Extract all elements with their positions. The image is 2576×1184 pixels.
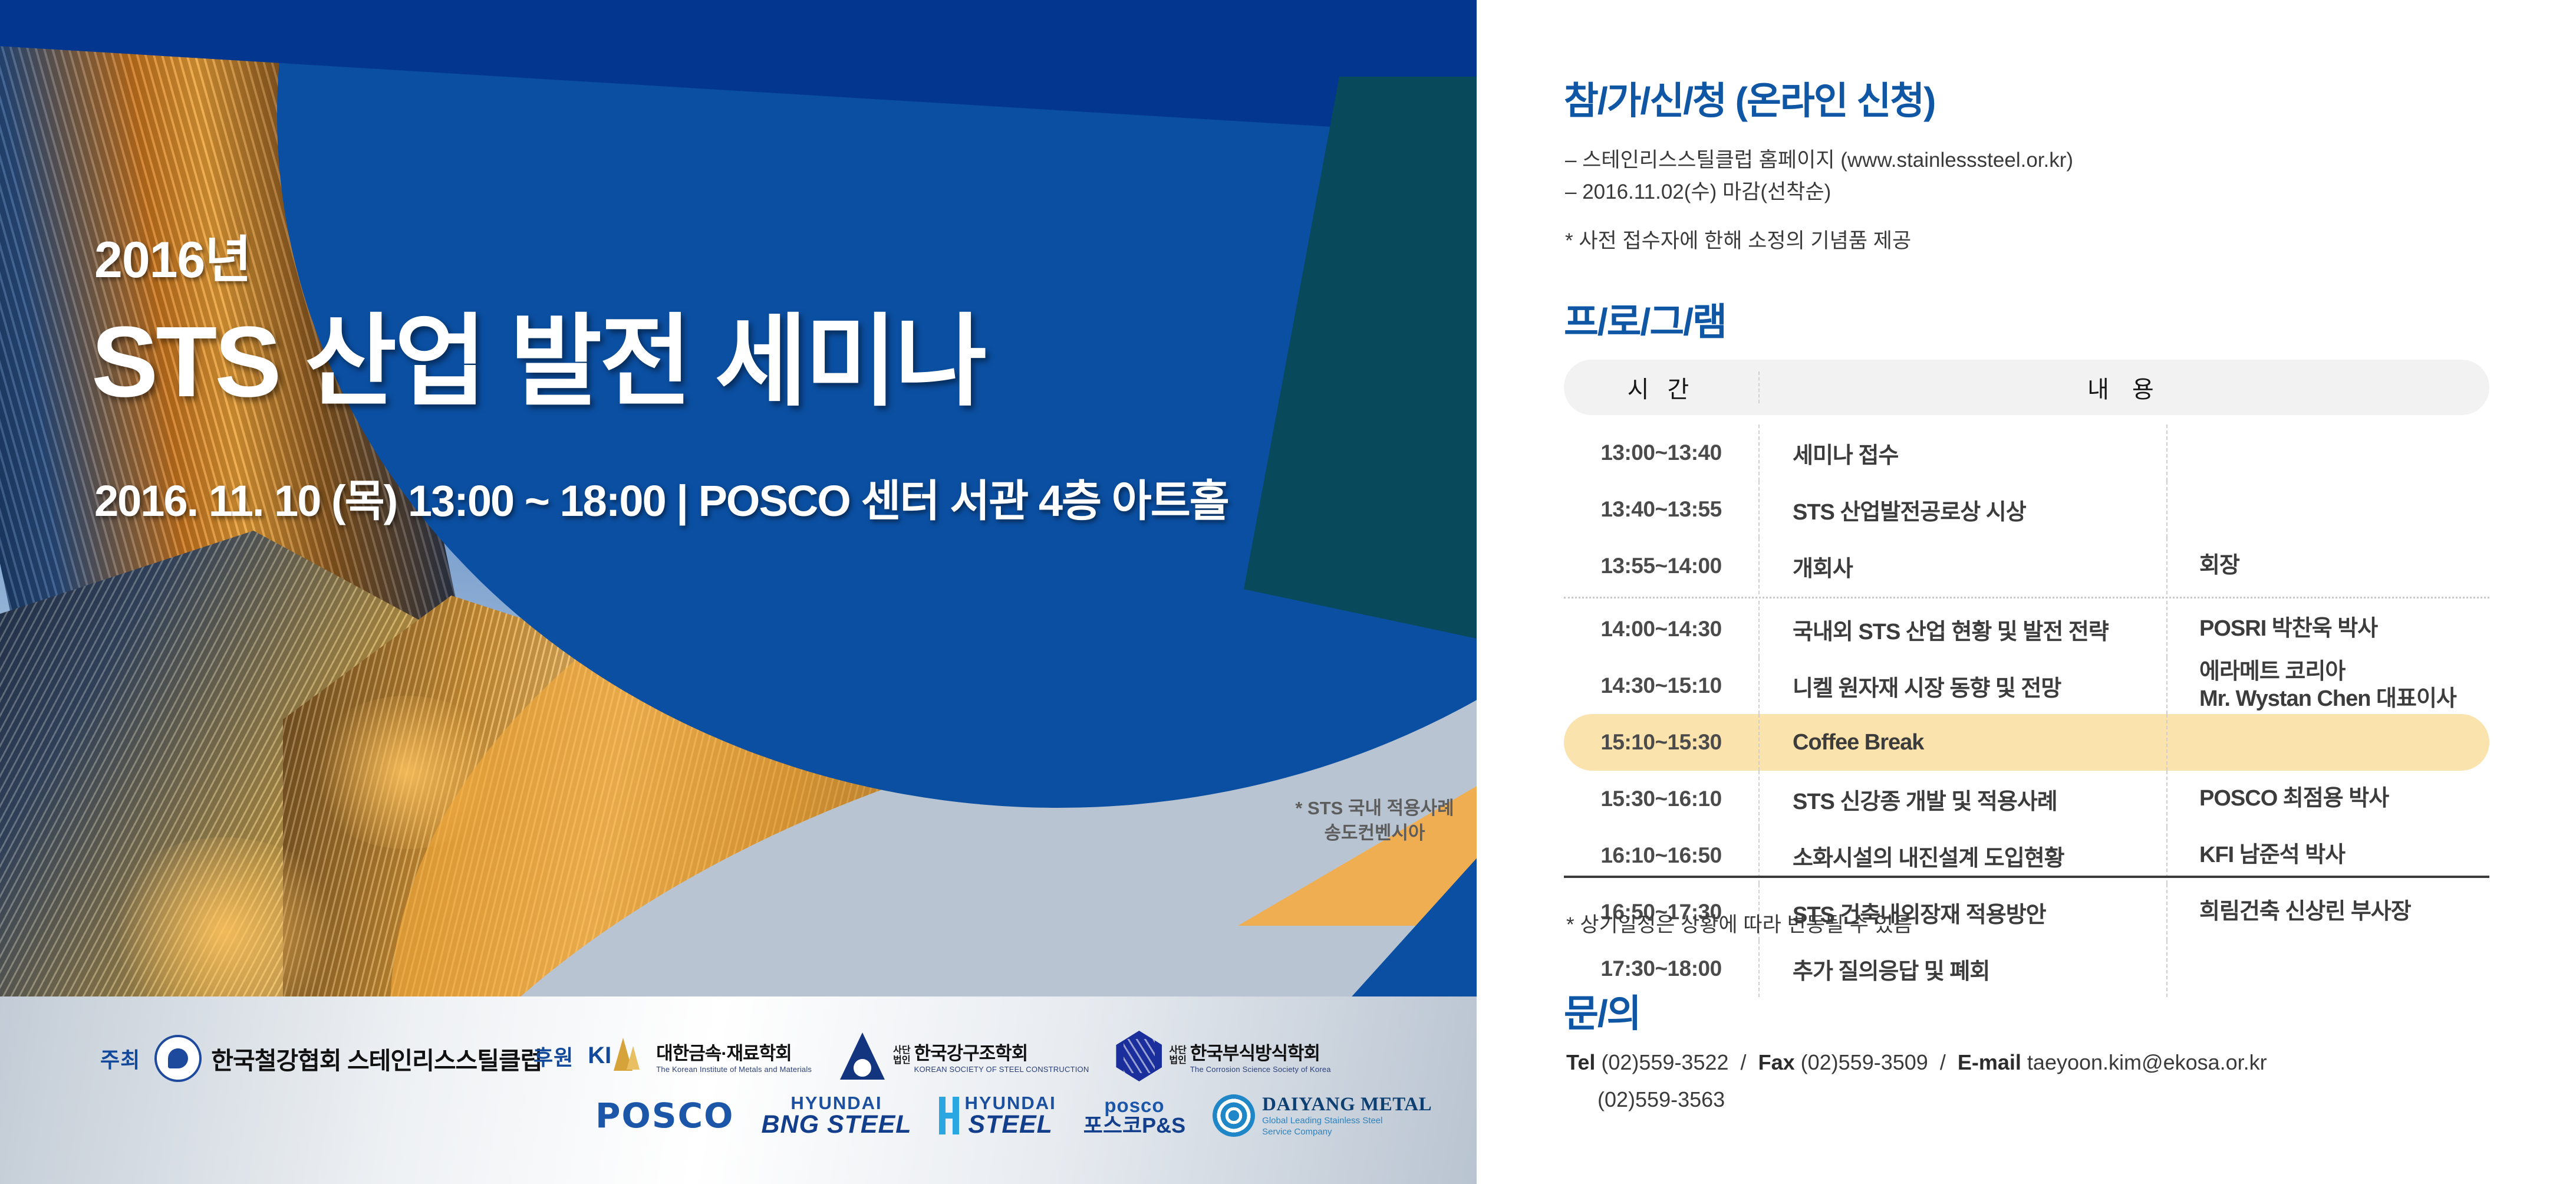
cssk-logo-icon <box>1116 1031 1162 1081</box>
logo-hyundai-steel: HYUNDAI STEEL <box>939 1094 1056 1137</box>
tel-value-secondary: (02)559-3563 <box>1597 1087 1725 1111</box>
society-cssk-name: 한국부식방식학회 <box>1190 1043 1320 1064</box>
cell-time: 13:55~14:00 <box>1564 554 1758 578</box>
posco-wordmark: POSCO <box>595 1096 734 1136</box>
photo-caption-line2: 송도컨벤시아 <box>1286 821 1463 846</box>
cell-content: 개회사 <box>1760 550 2166 583</box>
society-cssk-english: The Corrosion Science Society of Korea <box>1190 1065 1331 1074</box>
row-divider <box>1564 597 2489 598</box>
society-kscc: 사단법인 한국강구조학회 KOREAN SOCIETY OF STEEL CON… <box>839 1032 1089 1080</box>
logo-posco-pns: posco 포스코P&S <box>1083 1096 1185 1136</box>
cell-content: Coffee Break <box>1760 730 2166 755</box>
pns-line2: 포스코P&S <box>1083 1115 1185 1136</box>
hero-visual-panel: 2016년 STS 산업 발전 세미나 2016. 11. 10 (목) 13:… <box>0 0 1477 1184</box>
table-row: 13:00~13:40세미나 접수 <box>1564 425 2489 481</box>
daiyang-target-icon <box>1213 1094 1255 1137</box>
seminar-poster: 2016년 STS 산업 발전 세미나 2016. 11. 10 (목) 13:… <box>0 0 2576 1184</box>
fax-label: Fax <box>1758 1050 1795 1074</box>
email-label: E-mail <box>1958 1050 2021 1074</box>
society-kim: KI 대한금속·재료학회 The Korean Institute of Met… <box>588 1038 812 1074</box>
daiyang-line3: Service Company <box>1262 1127 1432 1138</box>
registration-item-1: – 2016.11.02(수) 마감(선착순) <box>1565 176 2073 208</box>
program-table-header: 시 간 내 용 <box>1564 360 2489 415</box>
contact-line-1: Tel (02)559-3522 / Fax (02)559-3509 / E-… <box>1566 1047 2267 1078</box>
support-label: 후원 <box>533 1041 574 1071</box>
cell-divider <box>2166 714 2167 771</box>
cell-content: STS 신강종 개발 및 적용사례 <box>1760 783 2166 815</box>
cell-time: 15:10~15:30 <box>1564 730 1758 755</box>
contact-separator-1: / <box>1741 1050 1747 1074</box>
cell-time: 13:40~13:55 <box>1564 497 1758 522</box>
registration-bullets: – 스테인리스스틸클럽 홈페이지 (www.stainlesssteel.or.… <box>1565 144 2073 209</box>
cell-content: 국내외 STS 산업 현황 및 발전 전략 <box>1760 613 2166 646</box>
cell-time: 15:30~16:10 <box>1564 787 1758 811</box>
registration-heading: 참/가/신/청 (온라인 신청) <box>1564 71 1935 125</box>
contact-separator-2: / <box>1940 1050 1946 1074</box>
cell-divider <box>2166 481 2167 538</box>
kim-logo-icon: KI <box>588 1038 649 1074</box>
cell-divider <box>2166 940 2167 997</box>
table-row: 15:10~15:30Coffee Break <box>1564 714 2489 771</box>
table-row: 13:55~14:00개회사회장 <box>1564 538 2489 594</box>
column-header-content: 내 용 <box>1760 370 2489 404</box>
society-kim-text: 대한금속·재료학회 The Korean Institute of Metals… <box>656 1038 812 1074</box>
cell-speaker: KFI 남준석 박사 <box>2167 842 2489 869</box>
society-kim-name: 대한금속·재료학회 <box>656 1043 791 1064</box>
cell-content: 세미나 접수 <box>1760 437 2166 469</box>
kscc-logo-icon <box>839 1032 886 1080</box>
cell-speaker: 에라메트 코리아Mr. Wystan Chen 대표이사 <box>2167 659 2489 712</box>
host-organization: 한국철강협회 스테인리스스틸클럽 <box>154 1035 542 1082</box>
bng-line1: HYUNDAI <box>761 1094 911 1112</box>
cell-time: 14:00~14:30 <box>1564 617 1758 642</box>
bng-line2: BNG STEEL <box>761 1112 911 1137</box>
cell-content: 니켈 원자재 시장 동향 및 전망 <box>1760 670 2166 702</box>
registration-item-0: – 스테인리스스틸클럽 홈페이지 (www.stainlesssteel.or.… <box>1565 144 2073 176</box>
company-logo-row: POSCO HYUNDAI BNG STEEL HYUNDAI STEEL po… <box>595 1094 1459 1138</box>
kosa-seal-icon <box>154 1035 202 1082</box>
cell-content: 소화시설의 내진설계 도입현황 <box>1760 840 2166 872</box>
society-kscc-prefix: 사단법인 <box>893 1046 910 1066</box>
fax-value: (02)559-3509 <box>1801 1050 1928 1074</box>
cell-speaker: 희림건축 신상린 부사장 <box>2167 899 2489 926</box>
table-row: 15:30~16:10STS 신강종 개발 및 적용사례POSCO 최점용 박사 <box>1564 771 2489 827</box>
society-cssk-prefix: 사단법인 <box>1169 1046 1186 1066</box>
host-row: 주최 한국철강협회 스테인리스스틸클럽 <box>100 1035 569 1082</box>
table-row: 14:00~14:30국내외 STS 산업 현황 및 발전 전략POSRI 박찬… <box>1564 601 2489 657</box>
cell-content: 추가 질의응답 및 폐회 <box>1760 953 2166 985</box>
program-footnote: * 상기일정은 상황에 따라 변동될 수 있음 <box>1566 908 1912 938</box>
contact-line-2: (02)559-3563 <box>1597 1084 1725 1116</box>
society-kim-english: The Korean Institute of Metals and Mater… <box>656 1065 812 1074</box>
cell-time: 16:10~16:50 <box>1564 843 1758 868</box>
logo-daiyang-metal: DAIYANG METAL Global Leading Stainless S… <box>1213 1094 1432 1138</box>
daiyang-line1: DAIYANG METAL <box>1262 1094 1432 1116</box>
logo-posco: POSCO <box>595 1096 734 1136</box>
cell-divider <box>2166 425 2167 481</box>
table-row: 17:30~18:00추가 질의응답 및 폐회 <box>1564 940 2489 997</box>
hyundai-steel-h-icon <box>939 1097 959 1134</box>
society-cssk-text: 한국부식방식학회 The Corrosion Science Society o… <box>1190 1038 1331 1074</box>
cell-speaker: 회장 <box>2167 552 2489 580</box>
cell-speaker: POSRI 박찬욱 박사 <box>2167 616 2489 643</box>
tel-value: (02)559-3522 <box>1601 1050 1728 1074</box>
hyundai-steel-line1: HYUNDAI <box>965 1094 1056 1112</box>
email-value[interactable]: taeyoon.kim@ekosa.or.kr <box>2027 1050 2267 1074</box>
column-header-time: 시 간 <box>1564 370 1758 404</box>
pns-line1: posco <box>1083 1096 1185 1115</box>
photo-caption: * STS 국내 적용사례 송도컨벤시아 <box>1286 796 1463 846</box>
cell-time: 17:30~18:00 <box>1564 956 1758 981</box>
table-row: 13:40~13:55STS 산업발전공로상 시상 <box>1564 481 2489 538</box>
society-kscc-text: 한국강구조학회 KOREAN SOCIETY OF STEEL CONSTRUC… <box>914 1038 1089 1074</box>
program-heading: 프/로/그/램 <box>1564 292 1726 346</box>
hero-title: STS 산업 발전 세미나 <box>91 280 984 425</box>
inquiry-heading: 문/의 <box>1564 984 1641 1038</box>
cell-speaker: POSCO 최점용 박사 <box>2167 785 2489 813</box>
cell-content: STS 산업발전공로상 시상 <box>1760 494 2166 526</box>
society-kscc-name: 한국강구조학회 <box>914 1043 1028 1064</box>
host-name: 한국철강협회 스테인리스스틸클럽 <box>211 1041 542 1076</box>
program-table: 시 간 내 용 13:00~13:40세미나 접수13:40~13:55STS … <box>1564 360 2489 997</box>
host-label: 주최 <box>100 1043 140 1074</box>
hyundai-steel-line2: STEEL <box>965 1112 1056 1137</box>
logo-hyundai-bng-steel: HYUNDAI BNG STEEL <box>761 1094 911 1137</box>
sponsor-band <box>0 996 1477 1184</box>
photo-caption-line1: * STS 국내 적용사례 <box>1286 796 1463 821</box>
info-panel: 참/가/신/청 (온라인 신청) – 스테인리스스틸클럽 홈페이지 (www.s… <box>1477 0 2576 1184</box>
cell-time: 13:00~13:40 <box>1564 440 1758 465</box>
cell-time: 14:30~15:10 <box>1564 673 1758 698</box>
daiyang-line2: Global Leading Stainless Steel <box>1262 1116 1432 1127</box>
tel-label: Tel <box>1566 1050 1595 1074</box>
table-row: 14:30~15:10니켈 원자재 시장 동향 및 전망에라메트 코리아Mr. … <box>1564 657 2489 714</box>
hero-datetime-venue: 2016. 11. 10 (목) 13:00 ~ 18:00 | POSCO 센… <box>94 466 1228 529</box>
society-kscc-english: KOREAN SOCIETY OF STEEL CONSTRUCTION <box>914 1065 1089 1074</box>
support-row: 후원 KI 대한금속·재료학회 The Korean Institute of … <box>533 1031 1358 1081</box>
society-cssk: 사단법인 한국부식방식학회 The Corrosion Science Soci… <box>1116 1031 1330 1081</box>
table-bottom-rule <box>1564 876 2489 878</box>
registration-note: * 사전 접수자에 한해 소정의 기념품 제공 <box>1565 224 1911 254</box>
